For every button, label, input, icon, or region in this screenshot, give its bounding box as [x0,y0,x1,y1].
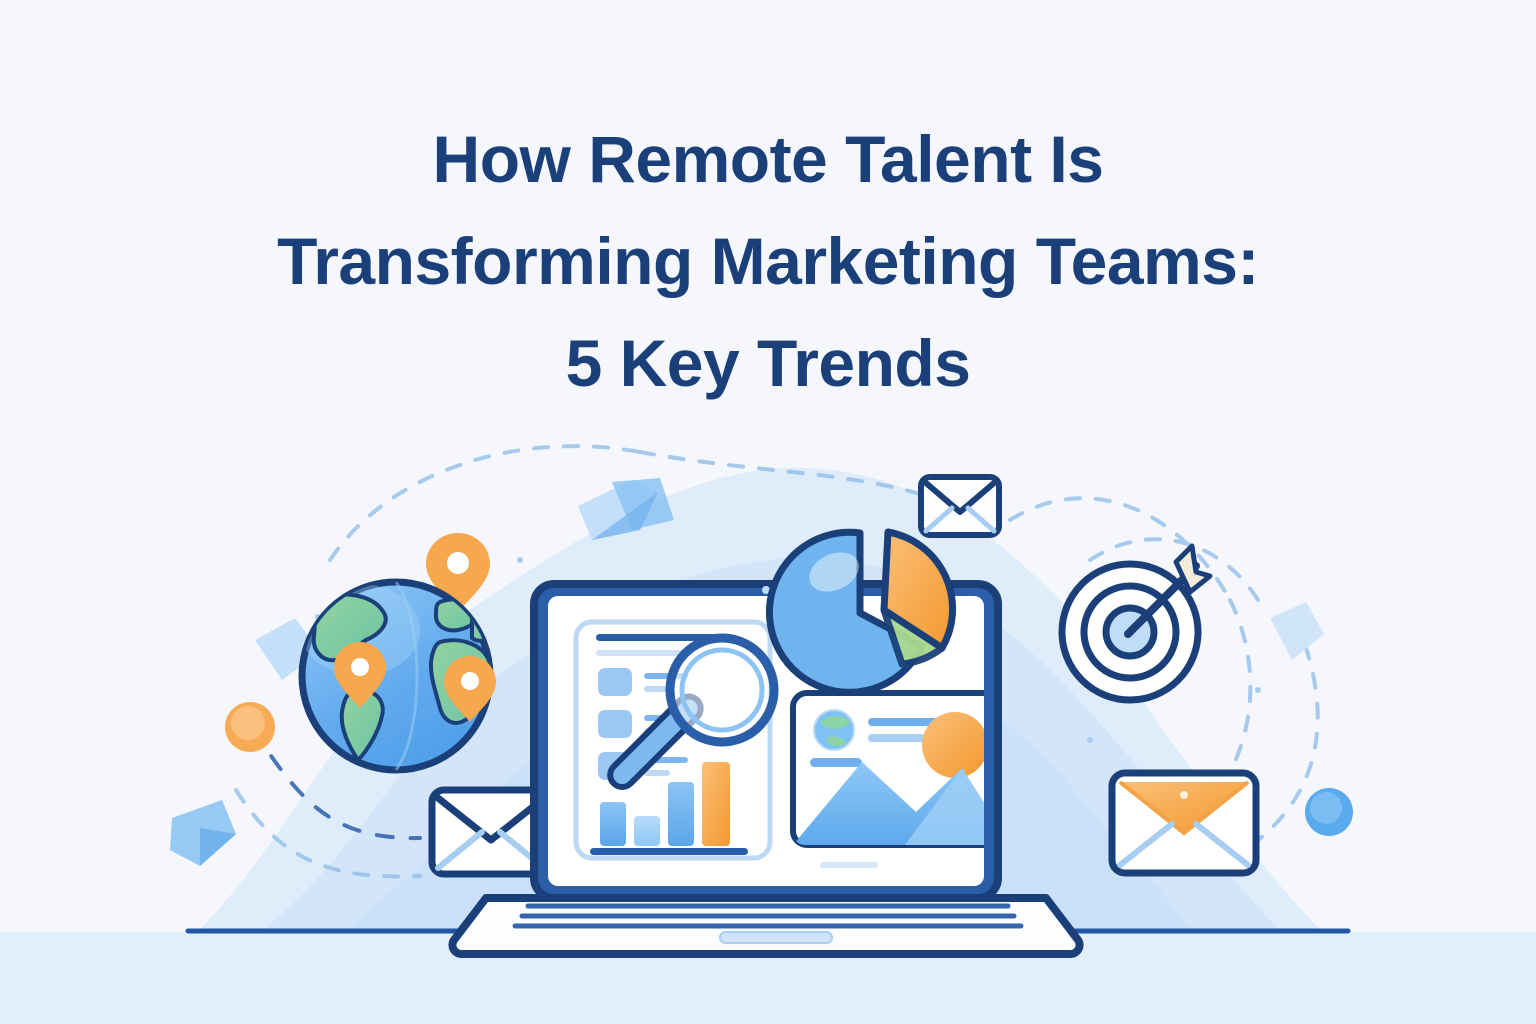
hero-banner: How Remote Talent Is Transforming Market… [0,0,1536,1024]
page-title: How Remote Talent Is Transforming Market… [0,108,1536,414]
page-title-line-1: How Remote Talent Is [0,108,1536,210]
page-title-line-3: 5 Key Trends [0,312,1536,414]
page-title-line-2: Transforming Marketing Teams: [0,210,1536,312]
